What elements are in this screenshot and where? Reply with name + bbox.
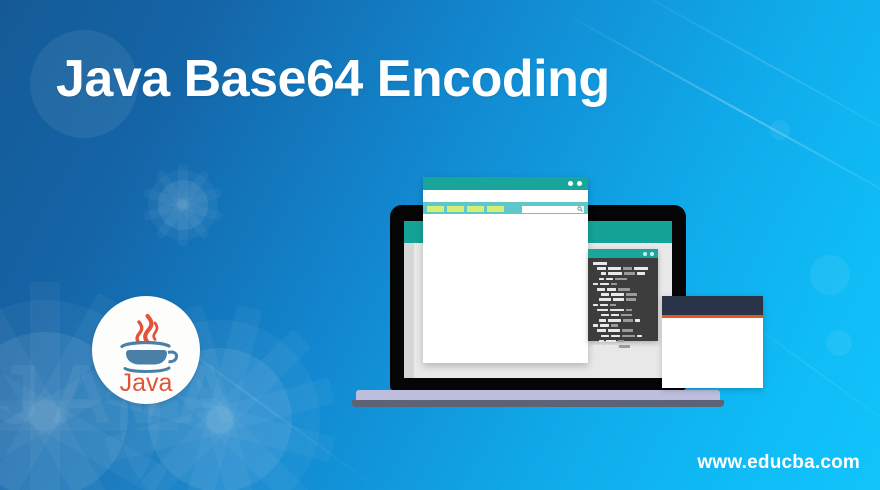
code-token — [601, 314, 609, 317]
code-line — [593, 262, 653, 265]
code-line — [593, 335, 653, 338]
code-token — [637, 272, 645, 275]
screen-side-strip — [404, 243, 414, 378]
browser-url-bar[interactable] — [423, 189, 588, 203]
code-line — [593, 267, 653, 270]
code-token — [608, 319, 621, 322]
menu-block[interactable] — [427, 206, 444, 212]
code-token — [608, 329, 620, 332]
code-token — [611, 335, 620, 338]
code-line — [593, 283, 653, 286]
code-line — [593, 314, 653, 317]
decorative-circle — [826, 330, 852, 356]
app-window-content-area — [662, 318, 763, 388]
menu-block[interactable] — [487, 206, 504, 212]
code-token — [619, 345, 630, 348]
code-token — [593, 324, 598, 327]
code-token — [622, 335, 635, 338]
browser-toolbar — [423, 203, 588, 214]
java-logo-badge: Java — [92, 296, 200, 404]
code-token — [600, 283, 609, 286]
window-controls[interactable] — [643, 252, 654, 256]
code-token — [597, 329, 606, 332]
code-line — [593, 288, 653, 291]
search-input[interactable] — [522, 206, 584, 213]
window-dot-icon[interactable] — [643, 252, 647, 256]
code-token — [600, 324, 609, 327]
code-token — [593, 262, 607, 265]
code-token — [610, 304, 616, 307]
laptop-base — [356, 390, 720, 400]
code-token — [597, 288, 605, 291]
code-token — [624, 272, 635, 275]
code-token — [599, 278, 604, 281]
code-line — [593, 272, 653, 275]
decorative-circle — [770, 120, 790, 140]
code-line — [593, 309, 653, 312]
code-token — [611, 293, 624, 296]
browser-content-area — [423, 214, 588, 363]
code-token — [605, 345, 617, 348]
code-token — [623, 319, 633, 322]
code-token — [601, 272, 606, 275]
magnifier-icon[interactable] — [577, 206, 583, 213]
code-line — [593, 293, 653, 296]
code-editor-window[interactable] — [588, 249, 658, 341]
code-token — [635, 319, 640, 322]
code-token — [637, 335, 642, 338]
code-token — [613, 298, 624, 301]
code-token — [600, 304, 608, 307]
code-line — [593, 340, 653, 343]
code-line — [593, 324, 653, 327]
code-token — [626, 298, 636, 301]
code-token — [597, 267, 606, 270]
code-token — [611, 283, 617, 286]
code-token — [621, 314, 632, 317]
window-controls[interactable] — [568, 181, 582, 186]
educba-banner: JAVA — [0, 0, 880, 490]
code-token — [593, 345, 603, 348]
browser-titlebar — [423, 177, 588, 189]
window-dot-icon[interactable] — [568, 181, 573, 186]
code-token — [599, 340, 604, 343]
code-token — [618, 340, 624, 343]
code-window-titlebar — [588, 249, 658, 258]
menu-block[interactable] — [467, 206, 484, 212]
decorative-light-streak — [560, 10, 880, 215]
code-token — [618, 288, 630, 291]
code-token — [606, 278, 613, 281]
code-line — [593, 319, 653, 322]
browser-window[interactable] — [423, 177, 588, 363]
decorative-circle — [810, 255, 850, 295]
laptop-foot — [352, 400, 724, 407]
code-token — [597, 309, 608, 312]
code-line — [593, 345, 653, 348]
code-token — [606, 340, 616, 343]
code-token — [599, 319, 606, 322]
decorative-light-streak — [600, 0, 880, 156]
window-dot-icon[interactable] — [650, 252, 654, 256]
code-token — [608, 272, 622, 275]
code-line — [593, 298, 653, 301]
code-token — [608, 267, 621, 270]
page-title: Java Base64 Encoding — [56, 50, 610, 110]
java-coffee-cup-icon: Java — [92, 296, 200, 404]
code-token — [607, 288, 616, 291]
java-logo-label: Java — [120, 369, 173, 397]
code-line — [593, 278, 653, 281]
code-token — [622, 329, 633, 332]
gear-icon — [148, 170, 218, 240]
app-window-titlebar — [662, 296, 763, 315]
code-token — [615, 278, 627, 281]
window-dot-icon[interactable] — [577, 181, 582, 186]
code-line — [593, 304, 653, 307]
code-token — [599, 298, 611, 301]
site-url: www.educba.com — [697, 452, 860, 474]
code-token — [623, 267, 632, 270]
code-line — [593, 329, 653, 332]
code-token — [626, 309, 632, 312]
code-token — [626, 293, 637, 296]
code-token — [601, 335, 609, 338]
gear-teeth — [148, 170, 218, 240]
code-token — [593, 283, 598, 286]
code-lines-container — [588, 258, 658, 352]
menu-block[interactable] — [447, 206, 464, 212]
code-token — [611, 314, 619, 317]
code-token — [610, 309, 624, 312]
code-token — [593, 304, 598, 307]
code-token — [611, 324, 618, 327]
app-window[interactable] — [662, 296, 763, 388]
code-token — [634, 267, 648, 270]
code-token — [601, 293, 609, 296]
